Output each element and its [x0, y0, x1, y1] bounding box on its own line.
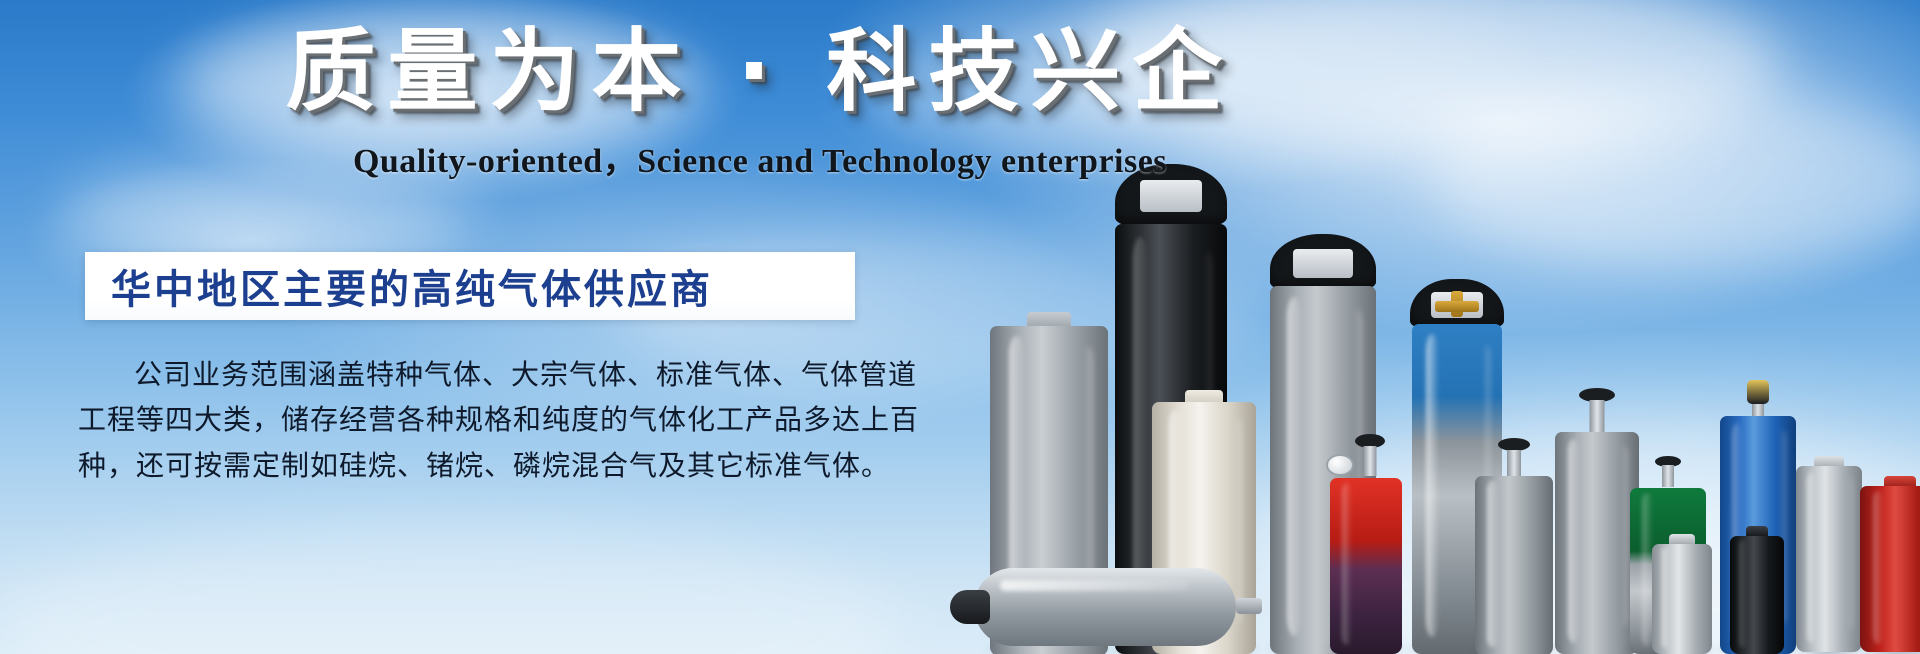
highlight-tagline: 华中地区主要的高纯气体供应商 [85, 257, 713, 315]
highlight-bar: 华中地区主要的高纯气体供应商 [85, 252, 855, 320]
red-cylinder [1860, 478, 1920, 654]
banner-paragraph: 公司业务范围涵盖特种气体、大宗气体、标准气体、气体管道 工程等四大类，储存经营各… [78, 352, 878, 488]
paragraph-line: 工程等四大类，储存经营各种规格和纯度的气体化工产品多达上百 [78, 397, 878, 442]
banner-headline: 质量为本 · 科技兴企 [0, 22, 1520, 123]
red-purple-cylinder [1330, 436, 1402, 654]
headline-block: 质量为本 · 科技兴企 Quality-oriented，Science and… [0, 22, 1520, 182]
hero-banner: 质量为本 · 科技兴企 Quality-oriented，Science and… [0, 0, 1920, 654]
black-small-cylinder [1730, 528, 1784, 654]
paragraph-line: 公司业务范围涵盖特种气体、大宗气体、标准气体、气体管道 [78, 352, 878, 397]
lying-grey-tank [950, 568, 1250, 646]
banner-subtitle: Quality-oriented，Science and Technology … [0, 133, 1520, 182]
paragraph-line: 种，还可按需定制如硅烷、锗烷、磷烷混合气及其它标准气体。 [78, 443, 878, 488]
silver-small-cylinder [1652, 536, 1712, 654]
aluminium-cylinder [1796, 458, 1862, 654]
cloud-decoration [0, 520, 900, 654]
grey-tall-valve-cylinder [1555, 392, 1639, 654]
grey-small-cylinder [1475, 442, 1553, 654]
